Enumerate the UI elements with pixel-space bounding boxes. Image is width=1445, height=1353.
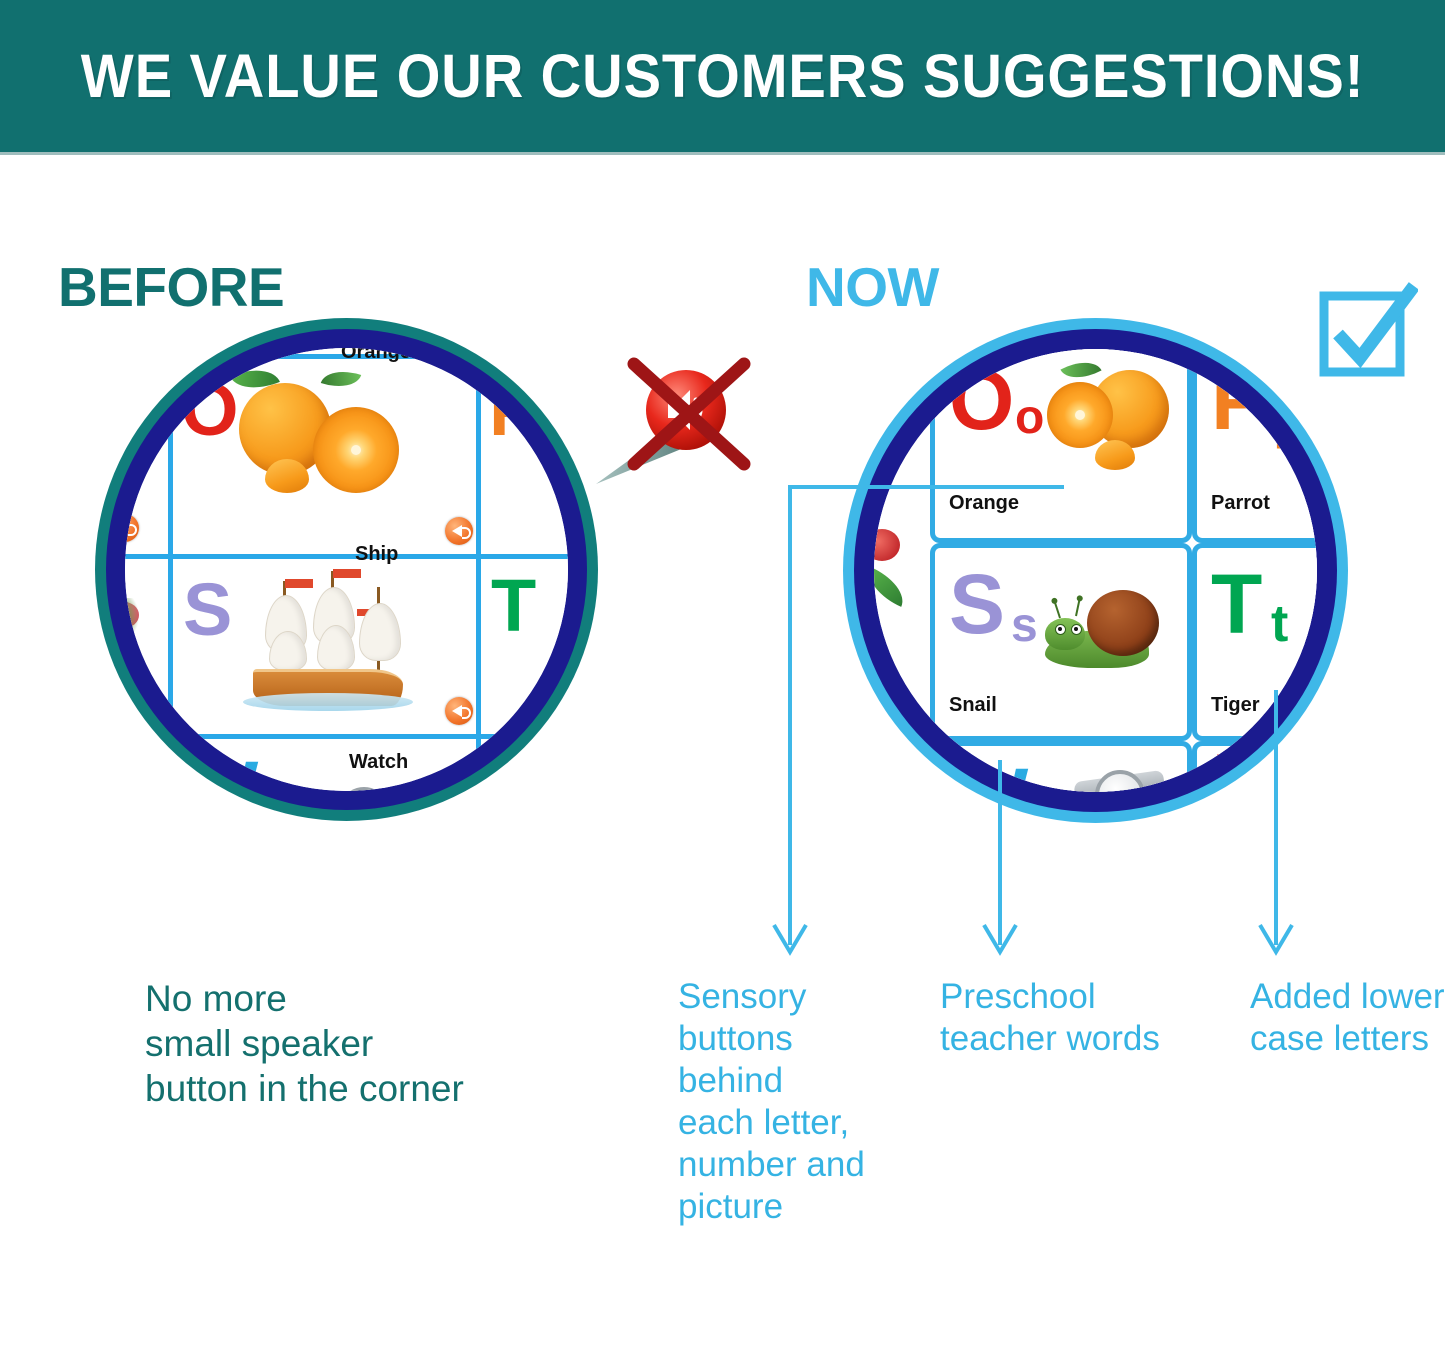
now-cell-s[interactable]: S s Snail xyxy=(930,543,1192,741)
page-title: WE VALUE OUR CUSTOMERS SUGGESTIONS! xyxy=(81,41,1365,111)
picture-orange-segment xyxy=(265,459,309,493)
checkbox-checked-icon xyxy=(1318,282,1418,382)
now-cell-p[interactable]: P p Parrot xyxy=(1192,349,1317,543)
section-label-now: NOW xyxy=(806,255,939,319)
decor-leaf xyxy=(321,364,361,394)
decor-feather xyxy=(874,367,922,427)
now-letter-s-lower: s xyxy=(1011,602,1038,650)
caption-sensory-buttons: Sensory buttons behind each letter, numb… xyxy=(678,976,868,1228)
small-speaker-button-icon[interactable] xyxy=(445,697,473,725)
caption-preschool-words: Preschool teacher words xyxy=(940,976,1180,1060)
now-magnifier: O o Orange P p Parrot S s Snail xyxy=(843,318,1348,823)
cell-letter-s: S xyxy=(183,573,232,647)
decor-leaf xyxy=(125,422,149,468)
decor-leaf xyxy=(874,567,911,607)
cell-word-watch: Watch xyxy=(349,751,408,774)
now-cell-t[interactable]: T t Tiger xyxy=(1192,543,1317,741)
now-lens-face: O o Orange P p Parrot S s Snail xyxy=(874,349,1317,792)
before-alphabet-chart: O Orange P S Ship xyxy=(125,348,568,791)
picture-wrist-watch xyxy=(1075,768,1195,792)
now-word-snail: Snail xyxy=(949,694,997,717)
picture-parrot xyxy=(561,375,568,415)
small-speaker-button-icon[interactable] xyxy=(445,517,473,545)
now-word-orange: Orange xyxy=(949,492,1019,515)
chart-cell-o[interactable]: O Orange xyxy=(173,359,476,554)
now-letter-o-upper: O xyxy=(949,358,1014,442)
cell-letter-x: X xyxy=(491,747,544,791)
chart-cell-s[interactable]: S Ship xyxy=(173,559,476,734)
decor-rose xyxy=(874,529,900,561)
cell-word-ship: Ship xyxy=(355,543,398,566)
cell-letter-t: T xyxy=(491,569,536,643)
cell-word-orange: Orange xyxy=(341,348,411,364)
cell-letter-w: W xyxy=(179,749,258,791)
small-speaker-button-icon[interactable] xyxy=(125,514,139,542)
caption-lowercase-letters: Added lower case letters xyxy=(1250,976,1445,1060)
decor-leaf xyxy=(125,598,141,644)
before-lens-face: O Orange P S Ship xyxy=(125,348,568,791)
header-divider xyxy=(0,152,1445,155)
chart-cell-x[interactable]: X xyxy=(481,739,568,791)
cell-letter-p: P xyxy=(489,373,538,447)
cell-letter-o: O xyxy=(181,373,239,447)
chart-cell-t[interactable]: T xyxy=(481,559,568,734)
picture-orange-segment xyxy=(1095,440,1135,470)
now-letter-o-lower: o xyxy=(1015,394,1044,442)
chart-cell-w[interactable]: W Watch xyxy=(173,739,476,791)
decor-x-shape xyxy=(1217,754,1261,792)
callout-arrowhead-preschool xyxy=(984,925,1016,952)
now-word-tiger: Tiger xyxy=(1211,694,1260,717)
before-magnifier: O Orange P S Ship xyxy=(95,318,598,821)
now-letter-w-upper: W xyxy=(949,756,1028,792)
picture-wrist-watch xyxy=(323,785,443,791)
now-letter-s-upper: S xyxy=(949,562,1005,646)
now-letter-p-upper: P xyxy=(1211,358,1267,442)
picture-sailing-ship xyxy=(247,565,437,725)
small-speaker-button-icon[interactable] xyxy=(125,692,139,720)
picture-snail xyxy=(1045,584,1175,684)
small-speaker-button-icon[interactable] xyxy=(445,348,473,350)
callout-arrowhead-lowercase xyxy=(1260,925,1292,952)
caption-no-speaker-button: No more small speaker button in the corn… xyxy=(145,976,464,1111)
callout-arrowhead-sensory xyxy=(774,925,806,952)
picture-orange-half xyxy=(1047,382,1113,448)
now-cell-o[interactable]: O o Orange xyxy=(930,349,1192,543)
section-label-before: BEFORE xyxy=(58,255,284,319)
speaker-crossed-out-callout xyxy=(596,346,786,496)
chart-cell-p[interactable]: P xyxy=(481,359,568,554)
now-letter-p-lower: p xyxy=(1273,390,1307,446)
now-letter-t-upper: T xyxy=(1211,562,1262,646)
now-word-parrot: Parrot xyxy=(1211,492,1270,515)
now-letter-t-lower: t xyxy=(1271,598,1288,650)
now-alphabet-chart: O o Orange P p Parrot S s Snail xyxy=(874,349,1317,792)
header-banner: WE VALUE OUR CUSTOMERS SUGGESTIONS! xyxy=(0,0,1445,152)
now-cell-w[interactable]: W xyxy=(930,741,1192,792)
picture-orange-half xyxy=(313,407,399,493)
now-cell-x[interactable] xyxy=(1192,741,1317,792)
